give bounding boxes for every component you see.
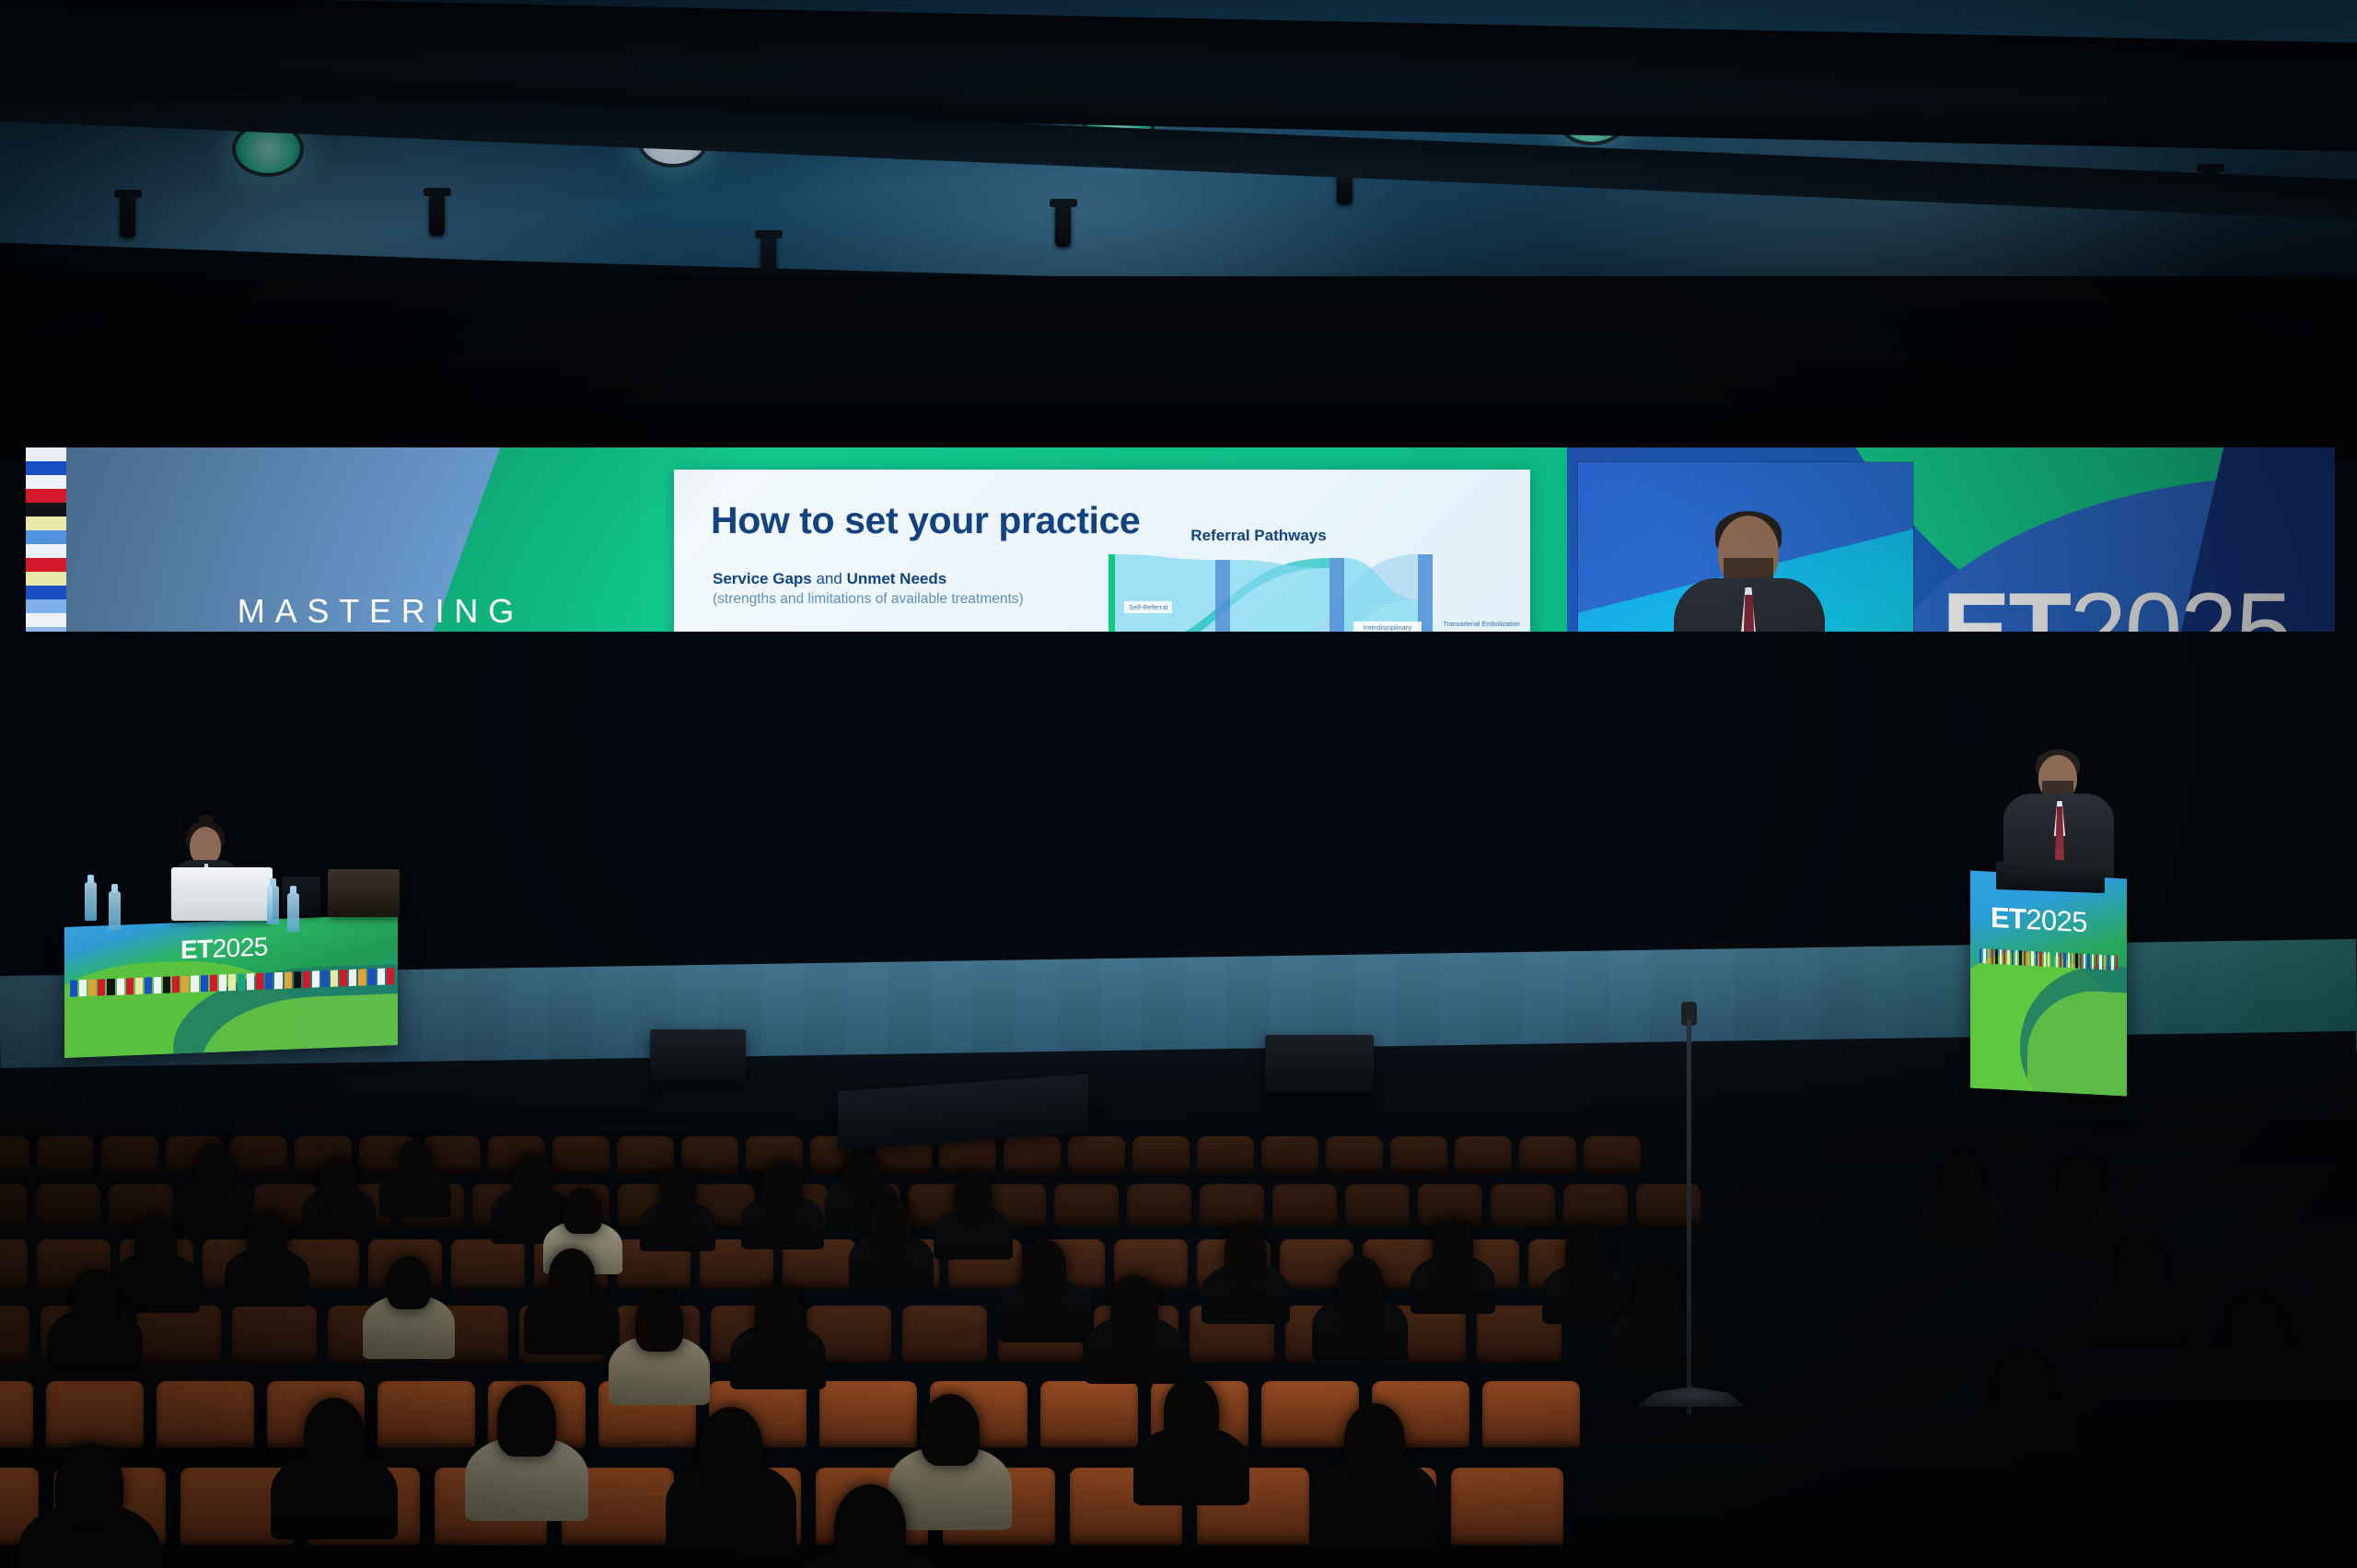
live-camera-feed [1578,462,1913,632]
flag-strip [26,447,66,632]
sankey-link [1115,554,1215,632]
flag-swatch [2024,951,2026,966]
podium-logo-prefix: ET [1991,903,2026,934]
flag-swatch [321,970,329,987]
ceiling [0,0,2357,276]
audience-person-head [247,1212,287,1261]
audience-person-head [1635,1267,1681,1322]
audience-person-head [2118,1239,2165,1296]
audience-seat [1390,1136,1447,1173]
water-bottle [85,882,97,921]
flag-swatch [340,970,347,986]
flag-swatch [210,975,217,992]
flag-swatch [98,979,105,995]
flag-swatch [201,975,208,992]
flag-swatch [312,970,319,987]
bullet-mid: and [812,570,847,587]
audience-seat [902,1306,987,1363]
audience-person-head [635,1293,683,1352]
audience-seat [1584,1136,1641,1173]
water-bottle [267,886,279,924]
audience-person-head [563,1188,602,1234]
audience-seat [1326,1136,1383,1173]
led-video-wall: MASTERING EMBOLIZATION How to set your p… [26,447,2335,632]
audience-person-head [72,1269,118,1324]
audience-seat [1127,1184,1191,1226]
flag-swatch [26,558,66,572]
flag-swatch [117,978,124,994]
flag-swatch [247,973,254,990]
audience-seat [1040,1381,1138,1447]
flag-swatch [2068,953,2070,968]
track-lamp-icon [1055,204,1071,247]
audience-person-head [134,1215,177,1267]
flag-swatch [256,973,263,990]
flag-swatch [26,613,66,627]
flag-swatch [387,968,394,984]
flag-swatch [2111,956,2113,970]
flag-swatch [284,971,292,988]
et2025-year: 2025 [2070,584,2291,632]
flag-swatch [274,972,282,989]
audience-seat [230,1136,287,1173]
audience-seat [1197,1136,1254,1173]
audience-seat [1004,1136,1061,1173]
flag-swatch [2080,954,2082,969]
audience-person-head [1164,1377,1219,1446]
audience-seat [1455,1136,1512,1173]
audience-seat [1519,1136,1576,1173]
flag-swatch [2087,954,2089,969]
sankey-node-label: Self-Referral [1124,601,1172,613]
flag-swatch [2056,952,2058,967]
flag-swatch [2072,953,2073,968]
flag-swatch [163,977,170,993]
audience-seat [37,1136,94,1173]
speaker-on-screen [1657,516,1841,632]
flag-swatch [377,969,385,985]
flag-swatch [107,979,114,995]
flag-swatch [1983,948,1985,963]
flag-swatch [2039,951,2041,966]
bullet-heading: Service Gaps and Unmet Needs [713,569,1109,588]
audience-seat [1563,1184,1628,1226]
flag-swatch [79,980,87,996]
audience-seat [46,1381,144,1447]
audience-seat [1132,1136,1190,1173]
audience-person-head [954,1173,993,1219]
slide-title: How to set your practice [711,499,1140,542]
water-bottle [287,893,299,932]
bullet-subtext: (strengths and limitations of available … [713,590,1109,609]
audience-seat [1200,1184,1264,1226]
flag-swatch [26,530,66,544]
audience-seat [1491,1184,1555,1226]
flag-swatch [1988,949,1990,964]
track-lamp-icon [429,193,445,236]
flag-swatch [294,971,301,988]
chart-title: Referral Pathways [1107,527,1411,545]
flag-swatch [26,503,66,517]
audience-seat [0,1239,28,1289]
track-lamp-icon [120,195,135,238]
flag-swatch [145,977,152,993]
audience-seat [1261,1136,1318,1173]
audience-person-head [2228,1296,2282,1361]
sankey-link [1230,560,1329,632]
et2025-logo: ET2025 [1942,584,2291,632]
moderator-desk: ET2025 [64,914,398,1058]
audience-seat [1451,1468,1563,1545]
audience-person-head [871,1199,911,1247]
audience-seat [377,1381,475,1447]
flag-swatch [88,980,96,996]
flag-swatch [1991,949,1993,964]
podium-et2025-logo: ET2025 [1991,903,2087,936]
audience-person-head [1110,1274,1158,1331]
flag-swatch [26,447,66,461]
audience-seat [617,1136,674,1173]
audience-seat [0,1184,28,1226]
audience-area [0,1131,2357,1568]
sankey-node [1418,554,1433,632]
moderator-laptop [328,869,400,917]
audience-person-head [755,1283,801,1339]
audience-seat [552,1136,610,1173]
led-panel-center: How to set your practice Service Gaps an… [641,447,1567,632]
flag-swatch [26,544,66,558]
flag-swatch [191,975,198,992]
audience-person-head [659,1167,696,1212]
flag-swatch [238,973,245,990]
audience-person-head [1337,1256,1383,1311]
flag-swatch [26,517,66,530]
audience-person-head [1943,1155,1981,1201]
audience-seat [136,1306,221,1363]
flag-swatch [26,461,66,475]
flag-swatch [2000,949,2002,964]
flag-swatch [2007,950,2009,965]
audience-seat [0,1306,29,1363]
flag-swatch [181,976,189,993]
flag-swatch [2063,953,2065,968]
audience-seat [1345,1184,1410,1226]
flag-swatch [2003,949,2005,964]
audience-person-head [1022,1239,1066,1293]
sankey-node [1329,558,1344,632]
stage-monitor-speaker [650,1029,746,1081]
audience-person-head [549,1249,595,1304]
bullet-bold-2: Unmet Needs [847,570,947,587]
flag-swatch [228,974,236,991]
audience-person-head [387,1256,431,1309]
audience-person-head [320,1156,357,1199]
flag-swatch [26,489,66,503]
flag-swatch [2096,955,2097,970]
audience-seat [1272,1184,1337,1226]
podium-laptop [1996,862,2105,893]
sankey-chart: Referral Pathways Self-ReferralOrthopedi… [1107,527,1512,632]
audience-person-head [195,1144,234,1190]
audience-person-head [762,1160,803,1208]
flag-swatch [154,977,161,993]
bullet-bold-1: Service Gaps [713,570,812,587]
audience-person-head [1225,1226,1267,1278]
stage-monitor-speaker [1265,1035,1374,1092]
flag-swatch [2019,950,2021,965]
audience-person-head [834,1484,906,1568]
led-panel-left: MASTERING EMBOLIZATION [26,447,641,632]
flag-swatch [265,972,273,989]
flag-swatch [2051,952,2053,967]
audience-person-head [921,1394,980,1466]
flag-swatch [2104,955,2106,970]
flag-swatch [2107,955,2109,970]
flag-swatch [26,627,66,632]
flag-swatch [2015,950,2017,965]
sankey-node [1215,560,1230,632]
audience-person-head [843,1147,880,1190]
audience-seat [681,1136,738,1173]
flag-swatch [2048,952,2049,967]
flag-swatch [368,969,376,985]
audience-person-head [304,1398,365,1471]
audience-person-head [1998,1352,2049,1414]
flag-swatch [358,969,366,985]
podium: ET2025 [1970,871,2127,1097]
desk-logo-prefix: ET [180,936,213,963]
flag-swatch [331,970,338,987]
flag-swatch [2075,954,2077,969]
water-bottle [109,891,121,930]
led-panel-right: ET2025 TERUMO INTERVENTIONAL SYSTEMS [1567,447,2335,632]
audience-person-head [55,1444,123,1527]
flag-swatch [26,572,66,586]
tagline-line-1: MASTERING [136,586,615,632]
flag-swatch [303,971,310,988]
audience-person-head [512,1153,552,1201]
audience-person-head [1433,1219,1473,1269]
flag-swatch [1980,948,1981,963]
audience-person-head [700,1407,762,1482]
audience-seat [1482,1381,1580,1447]
podium-logo-year: 2025 [2026,905,2086,936]
slide-bullet: Service Gaps and Unmet Needs (strengths … [713,569,1109,609]
flag-swatch [2044,952,2046,967]
flag-swatch [70,980,77,996]
flag-swatch [2099,955,2101,970]
presentation-slide: How to set your practice Service Gaps an… [674,470,1530,632]
audience-seat [1068,1136,1125,1173]
audience-seat [101,1136,158,1173]
auditorium-scene: MASTERING EMBOLIZATION How to set your p… [0,0,2357,1568]
moderator-monitor [171,867,273,921]
slide-bullet-list: Service Gaps and Unmet Needs (strengths … [713,569,1109,632]
desk-logo-year: 2025 [213,934,268,961]
flag-swatch [126,978,134,994]
flag-swatch [2084,954,2085,969]
sankey-node-label: Interdisciplinary Conference [1353,621,1422,632]
et2025-prefix: ET [1942,584,2070,632]
sankey-node-label: Transarterial Embolization [1442,620,1521,628]
flag-swatch [2092,954,2094,969]
audience-person-head [1565,1226,1608,1278]
flag-swatch [2027,951,2029,966]
flag-swatch [349,970,356,986]
flag-swatch [26,599,66,613]
flag-swatch [172,976,180,993]
sankey-node [1109,554,1115,632]
audience-person-head [2059,1158,2101,1210]
flag-swatch [2036,951,2038,966]
flag-swatch [219,974,226,991]
back-wall [0,276,2357,460]
audience-person-head [398,1140,433,1180]
microphone-stand [1687,1020,1691,1414]
audience-seat [0,1136,29,1173]
audience-seat [451,1239,525,1289]
audience-seat [232,1306,317,1363]
flag-swatch [1995,949,1997,964]
audience-seat [0,1381,33,1447]
flag-swatch [26,586,66,599]
audience-person-head [1344,1403,1405,1477]
audience-person-head [497,1385,556,1457]
desk-et2025-logo: ET2025 [180,934,268,963]
audience-seat [157,1381,254,1447]
flag-swatch [2012,950,2014,965]
flag-swatch [26,475,66,489]
flag-swatch [2060,953,2061,968]
audience-seat [819,1381,917,1447]
audience-seat [1054,1184,1119,1226]
flag-swatch [2031,951,2033,966]
event-tagline: MASTERING EMBOLIZATION [136,586,615,632]
flag-swatch [135,978,143,994]
audience-seat [36,1184,100,1226]
flag-swatch [2116,956,2118,970]
